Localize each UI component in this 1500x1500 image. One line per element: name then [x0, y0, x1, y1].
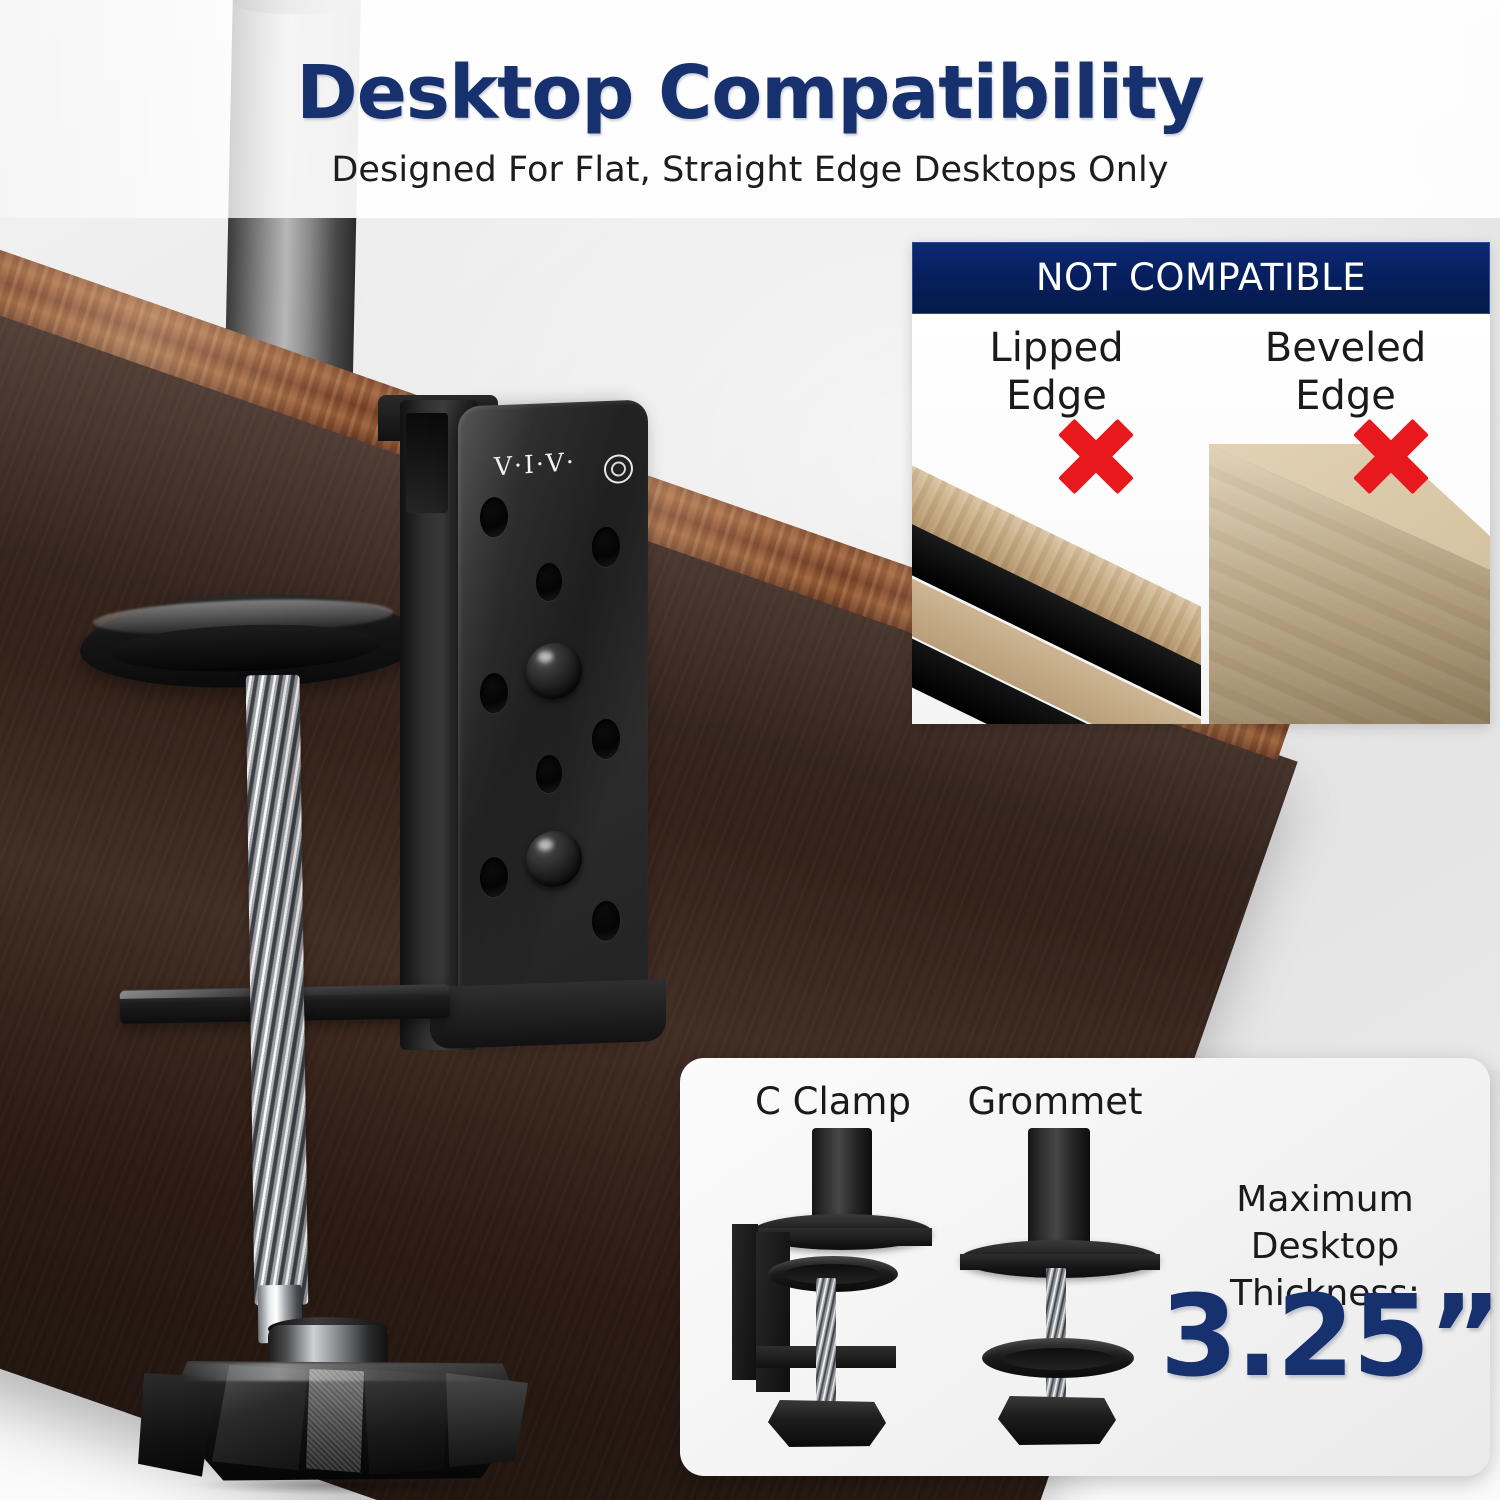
c-clamp-hero-illustration: V·I·V·: [100, 395, 680, 1115]
grommet-mini-illustration: [942, 1128, 1192, 1458]
knob-facet-center: [306, 1369, 364, 1477]
knob-highlight: [180, 1363, 510, 1381]
red-x-icon: [1052, 412, 1140, 500]
knob-facet-far: [446, 1373, 528, 1473]
page-subtitle: Designed For Flat, Straight Edge Desktop…: [0, 150, 1500, 190]
beveled-edge-artwork: [1201, 436, 1490, 724]
clamp-tightening-knob: [120, 1325, 540, 1500]
clamp-slot-cutout: [406, 413, 448, 513]
mini-clamp-vertical-bracket: [732, 1224, 758, 1380]
grommet-option-label: Grommet: [930, 1080, 1180, 1123]
red-x-icon: [1347, 412, 1435, 500]
knob-facet-left: [212, 1365, 308, 1477]
not-compatible-body: Lipped Edge Beveled Ed: [912, 314, 1490, 724]
knob-facet-right: [364, 1369, 450, 1479]
lipped-edge-label: Lipped Edge: [912, 324, 1201, 420]
vivo-logo-text: V·I·V·: [494, 447, 577, 481]
mini-clamp-threaded-rod: [816, 1278, 836, 1410]
knob-wing-tab: [138, 1373, 216, 1481]
max-thickness-line1: Maximum: [1236, 1179, 1413, 1220]
c-clamp-mini-illustration: [710, 1128, 960, 1458]
c-clamp-option-label: C Clamp: [708, 1080, 958, 1123]
mini-clamp-knob: [768, 1400, 886, 1448]
mini-grommet-knob: [998, 1396, 1116, 1446]
not-compatible-item-beveled: Beveled Edge: [1201, 324, 1490, 724]
beveled-edge-label: Beveled Edge: [1201, 324, 1490, 420]
not-compatible-heading: NOT COMPATIBLE: [912, 242, 1490, 314]
mini-grommet-washer-inner: [1004, 1348, 1114, 1370]
page-title: Desktop Compatibility: [0, 50, 1500, 136]
mini-grommet-post: [1028, 1128, 1090, 1256]
lipped-edge-label-line1: Lipped: [989, 325, 1123, 371]
infographic-canvas: Desktop Compatibility Designed For Flat,…: [0, 0, 1500, 1500]
not-compatible-item-lipped: Lipped Edge: [912, 324, 1201, 724]
clamp-bottom-foot: [430, 979, 666, 1049]
mini-clamp-vertical-bracket-inner: [756, 1232, 790, 1392]
clamp-threaded-rod: [246, 675, 309, 1306]
max-thickness-value: 3.25”: [1160, 1272, 1490, 1402]
not-compatible-panel: NOT COMPATIBLE Lipped Edge: [912, 242, 1490, 724]
plate-highlight: [458, 399, 648, 1034]
beveled-edge-label-line1: Beveled: [1265, 325, 1426, 371]
clamp-front-plate: V·I·V·: [458, 399, 648, 1034]
